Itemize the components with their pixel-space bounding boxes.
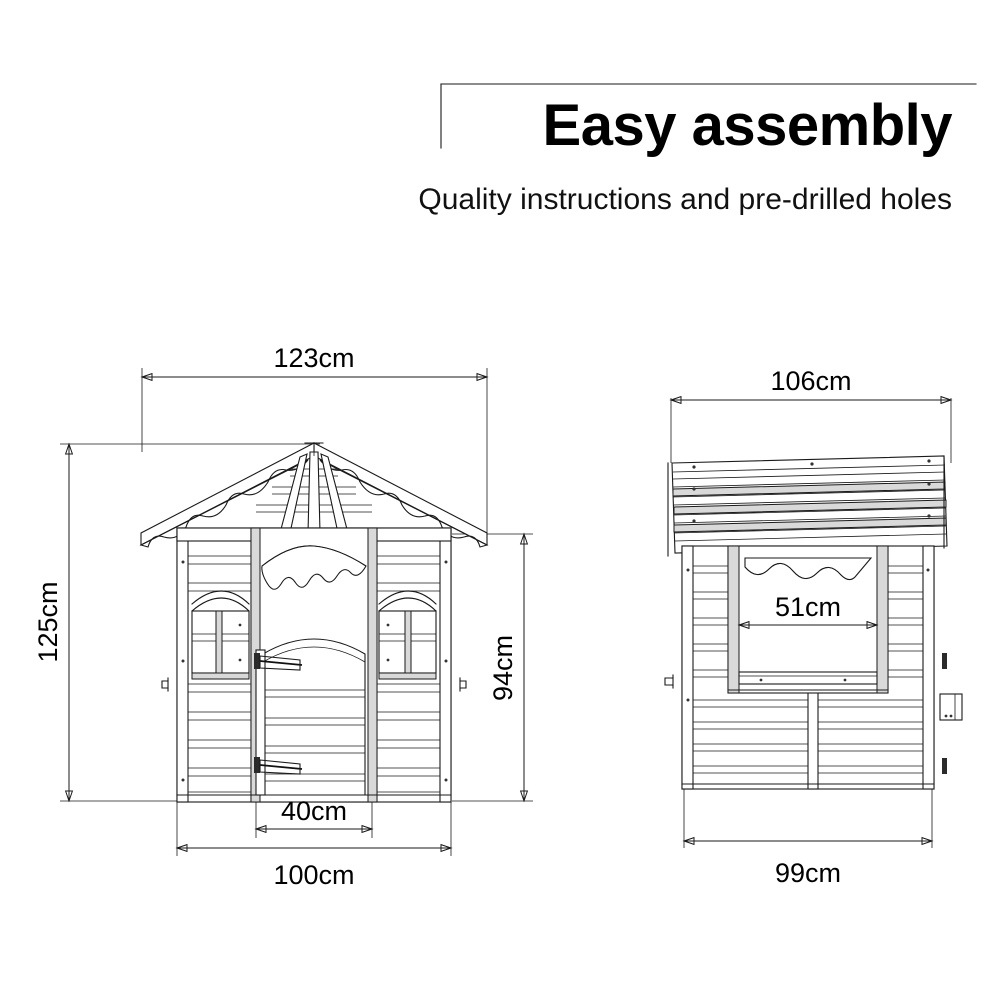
side-roof — [668, 456, 947, 556]
side-hinge-lower — [942, 758, 947, 774]
screenshot-root: Easy assembly Quality instructions and p… — [0, 0, 1000, 1000]
dimension-label-99cm: 99cm — [775, 858, 841, 888]
side-handle-left — [665, 675, 673, 688]
side-wall — [665, 546, 962, 789]
dimension-label-51cm: 51cm — [775, 592, 841, 622]
dimension-base-depth: 99cm — [684, 789, 932, 888]
dimension-label-106cm: 106cm — [770, 366, 851, 396]
dimension-roof-depth: 106cm — [671, 366, 951, 463]
side-hinge-upper — [942, 653, 947, 669]
side-latch — [940, 694, 962, 720]
side-elevation-diagram: 106cm — [0, 0, 1000, 1000]
